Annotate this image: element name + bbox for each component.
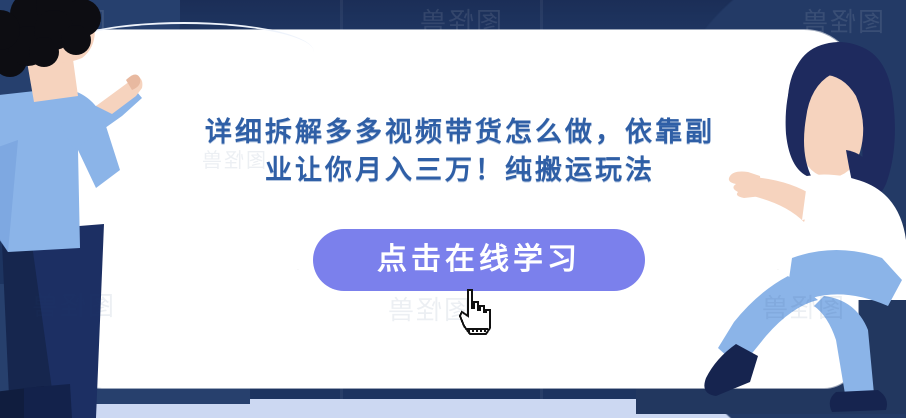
pointing-hand-cursor-icon xyxy=(452,288,496,338)
headline-line-1: 详细拆解多多视频带货怎么做，依靠副 xyxy=(160,114,760,152)
left-figure-illustration xyxy=(0,0,200,418)
page-title: 详细拆解多多视频带货怎么做，依靠副 业让你月入三万！纯搬运玩法 xyxy=(160,114,760,190)
click-to-learn-online-button[interactable]: 点击在线学习 xyxy=(313,229,645,291)
headline-line-2: 业让你月入三万！纯搬运玩法 xyxy=(160,152,760,190)
cta-label: 点击在线学习 xyxy=(377,245,581,275)
promo-banner: 图怪兽 图怪兽 图怪兽 xyxy=(0,0,906,418)
right-figure-illustration xyxy=(696,0,906,418)
